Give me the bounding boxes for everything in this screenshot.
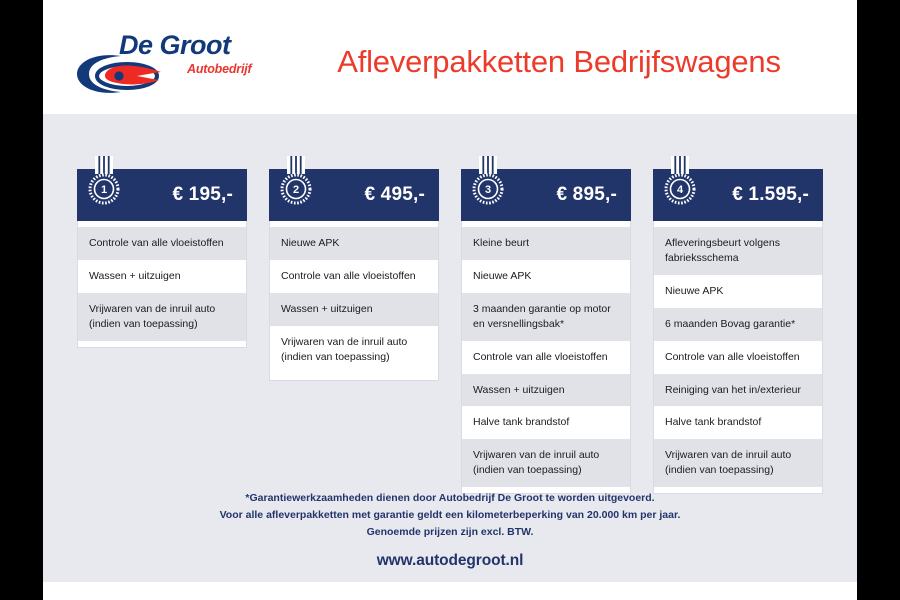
poster-footer-band [43,582,857,600]
screenshot-stage: De Groot Autobedrijf Afleverpakketten Be… [0,0,900,600]
list-item: Wassen + uitzuigen [270,293,438,326]
package-items-1: Controle van alle vloeistoffen Wassen + … [77,221,247,348]
list-item: Vrijwaren van de inruil auto (indien van… [78,293,246,341]
package-header-3: 3 € 895,- [461,169,631,221]
medal-rank-4: 4 [677,184,684,196]
list-item: Controle van alle vloeistoffen [654,341,822,374]
medal-4-icon: 4 [663,156,697,212]
package-items-2: Nieuwe APK Controle van alle vloeistoffe… [269,221,439,381]
package-card-2[interactable]: 2 € 495,- Nieuwe APK Controle van alle v… [269,169,439,381]
package-header-1: 1 € 195,- [77,169,247,221]
list-item: Vrijwaren van de inruil auto (indien van… [654,439,822,487]
list-item: 6 maanden Bovag garantie* [654,308,822,341]
medal-2-icon: 2 [279,156,313,212]
package-items-3: Kleine beurt Nieuwe APK 3 maanden garant… [461,221,631,494]
package-card-1[interactable]: 1 € 195,- Controle van alle vloeistoffen… [77,169,247,348]
footnote-line-2: Voor alle afleverpakketten met garantie … [43,507,857,524]
list-item: Controle van alle vloeistoffen [78,227,246,260]
package-card-4[interactable]: 4 € 1.595,- Afleveringsbeurt volgens fab… [653,169,823,494]
medal-1-icon: 1 [87,156,121,212]
list-item: Kleine beurt [462,227,630,260]
medal-rank-3: 3 [485,184,491,196]
footnote-line-1: *Garantiewerkzaamheden dienen door Autob… [43,490,857,507]
list-item: Vrijwaren van de inruil auto (indien van… [462,439,630,487]
website-link[interactable]: www.autodegroot.nl [43,552,857,570]
list-item: Halve tank brandstof [654,406,822,439]
poster: De Groot Autobedrijf Afleverpakketten Be… [43,0,857,600]
list-item: Reiniging van het in/exterieur [654,374,822,407]
list-item: Nieuwe APK [270,227,438,260]
poster-header: De Groot Autobedrijf Afleverpakketten Be… [43,0,857,114]
page-title: Afleverpakketten Bedrijfswagens [279,44,839,80]
list-item: Afleveringsbeurt volgens fabrieksschema [654,227,822,275]
medal-3-icon: 3 [471,156,505,212]
list-item: Halve tank brandstof [462,406,630,439]
list-item: Wassen + uitzuigen [462,374,630,407]
list-item: Controle van alle vloeistoffen [270,260,438,293]
list-item: Vrijwaren van de inruil auto (indien van… [270,326,438,374]
package-items-4: Afleveringsbeurt volgens fabrieksschema … [653,221,823,494]
packages-section: 1 € 195,- Controle van alle vloeistoffen… [43,114,857,484]
package-card-3[interactable]: 3 € 895,- Kleine beurt Nieuwe APK 3 maan… [461,169,631,494]
list-item: 3 maanden garantie op motor en versnelli… [462,293,630,341]
package-price-1: € 195,- [172,184,233,206]
logo-company-name: De Groot [119,32,231,59]
footnote-line-3: Genoemde prijzen zijn excl. BTW. [43,524,857,541]
company-logo: De Groot Autobedrijf [75,32,285,94]
package-price-3: € 895,- [556,184,617,206]
list-item: Controle van alle vloeistoffen [462,341,630,374]
package-price-2: € 495,- [364,184,425,206]
package-header-2: 2 € 495,- [269,169,439,221]
list-item: Wassen + uitzuigen [78,260,246,293]
footnote: *Garantiewerkzaamheden dienen door Autob… [43,490,857,541]
logo-tagline: Autobedrijf [187,62,251,76]
list-item: Nieuwe APK [654,275,822,308]
medal-rank-2: 2 [293,184,299,196]
list-item: Nieuwe APK [462,260,630,293]
medal-rank-1: 1 [101,184,107,196]
package-header-4: 4 € 1.595,- [653,169,823,221]
package-price-4: € 1.595,- [732,184,809,206]
